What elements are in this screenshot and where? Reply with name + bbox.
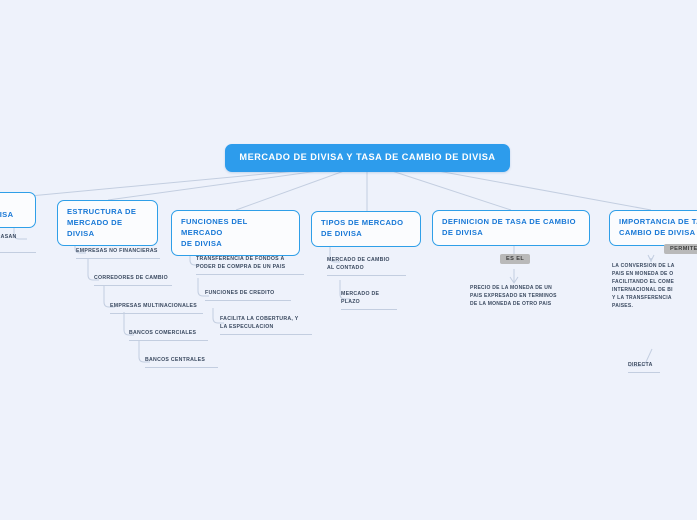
- leaf-item[interactable]: FACILITA LA COBERTURA, Y LA ESPECULACION: [220, 316, 312, 335]
- leaf-item[interactable]: BANCOS CENTRALES: [145, 357, 218, 368]
- leaf-item[interactable]: TRANSFERENCIA DE FONDOS A PODER DE COMPR…: [196, 256, 304, 275]
- edge-root-to-definicion: [392, 171, 511, 210]
- edge-root-to-mercado-de-divisa: [30, 171, 296, 196]
- edge-root-to-importancia: [438, 171, 651, 210]
- branch-node-definicion-de-tasa-de-cambio-de-divisa[interactable]: DEFINICION DE TASA DE CAMBIO DE DIVISA: [432, 210, 590, 246]
- branch-node-estructura-de-mercado-de-divisa[interactable]: ESTRUCTURA DE MERCADO DE DIVISA: [57, 200, 158, 246]
- leaf-item[interactable]: MERCADO DE PLAZO: [341, 291, 397, 310]
- arrowhead-definicion: [510, 277, 518, 283]
- branch-node-mercado-de-divisa[interactable]: DE DIVISA: [0, 192, 36, 228]
- leaf-item[interactable]: EMPRESAS NO FINANCIERAS: [76, 248, 160, 259]
- leaf-item[interactable]: BANCOS COMERCIALES: [129, 330, 208, 341]
- leaf-item[interactable]: EMPRESAS MULTINACIONALES: [110, 303, 203, 314]
- mindmap-canvas: MERCADO DE DIVISA Y TASA DE CAMBIO DE DI…: [0, 0, 697, 520]
- branch-node-tipos-de-mercado-de-divisa[interactable]: TIPOS DE MERCADO DE DIVISA: [311, 211, 421, 247]
- leaf-item[interactable]: DIRECTA: [628, 362, 660, 373]
- leaf-item[interactable]: LA CONVERSION DE LA PAIS EN MONEDA DE O …: [612, 262, 697, 311]
- leaf-item[interactable]: FUNCIONES DE CREDITO: [205, 290, 291, 301]
- root-node[interactable]: MERCADO DE DIVISA Y TASA DE CAMBIO DE DI…: [225, 144, 510, 172]
- edge-root-to-funciones: [236, 171, 344, 210]
- leaf-item[interactable]: PRECIO DE LA MONEDA DE UN PAIS EXPRESADO…: [470, 284, 562, 308]
- branch-node-funciones-del-mercado-de-divisa[interactable]: FUNCIONES DEL MERCADO DE DIVISA: [171, 210, 300, 256]
- relationship-badge-permite[interactable]: PERMITE: [664, 244, 697, 254]
- arrowhead-importancia: [648, 255, 654, 261]
- leaf-item[interactable]: CORREDORES DE CAMBIO: [94, 275, 172, 286]
- relationship-badge-es-el[interactable]: ES EL: [500, 254, 530, 264]
- leaf-item[interactable]: SE TRASAN DAS: [0, 234, 36, 253]
- leaf-item[interactable]: MERCADO DE CAMBIO AL CONTADO: [327, 257, 406, 276]
- edge-root-to-estructura: [108, 171, 318, 200]
- branch-node-importancia-de-tasa-de-cambio-de-divisa[interactable]: IMPORTANCIA DE TA CAMBIO DE DIVISA: [609, 210, 697, 246]
